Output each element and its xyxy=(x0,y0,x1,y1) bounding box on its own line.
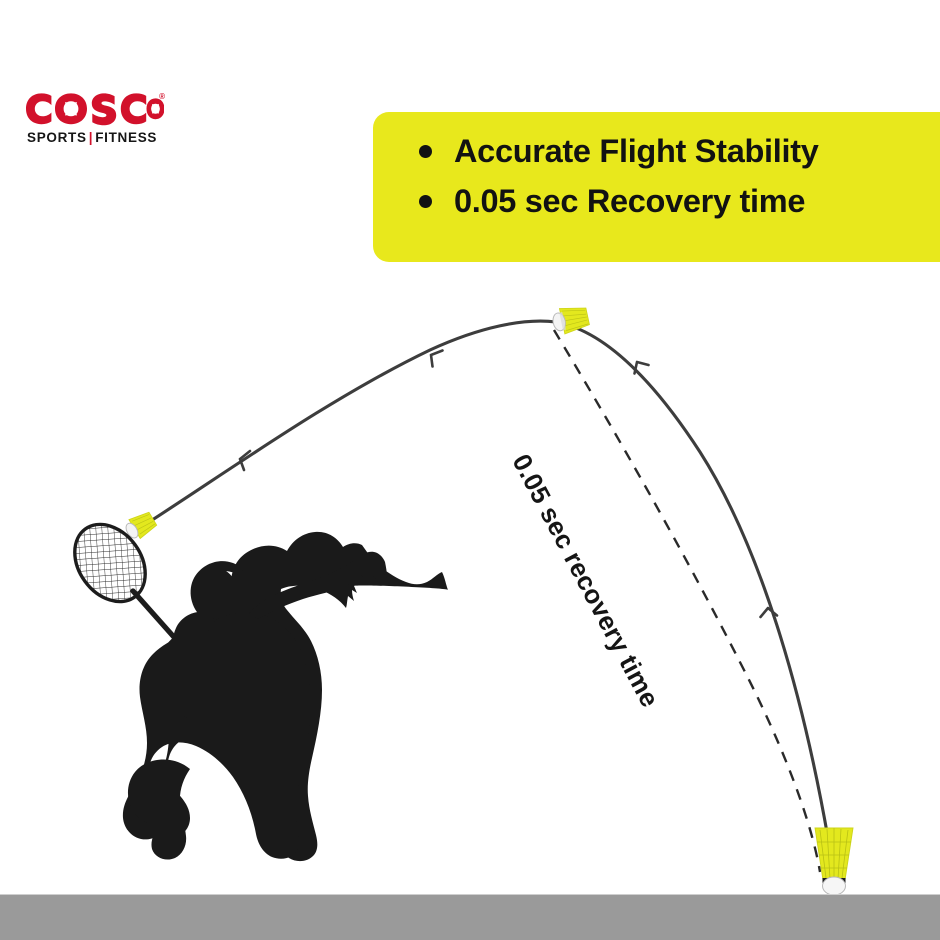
ground-surface xyxy=(0,894,940,940)
flight-trajectory-illustration xyxy=(0,0,940,940)
player-silhouette xyxy=(123,532,448,861)
shuttlecock-landing xyxy=(815,828,853,895)
recovery-dashed-line xyxy=(554,330,820,872)
promo-graphic-page: ® SPORTS|FITNESS Accurate Flight Stabili… xyxy=(0,0,940,940)
